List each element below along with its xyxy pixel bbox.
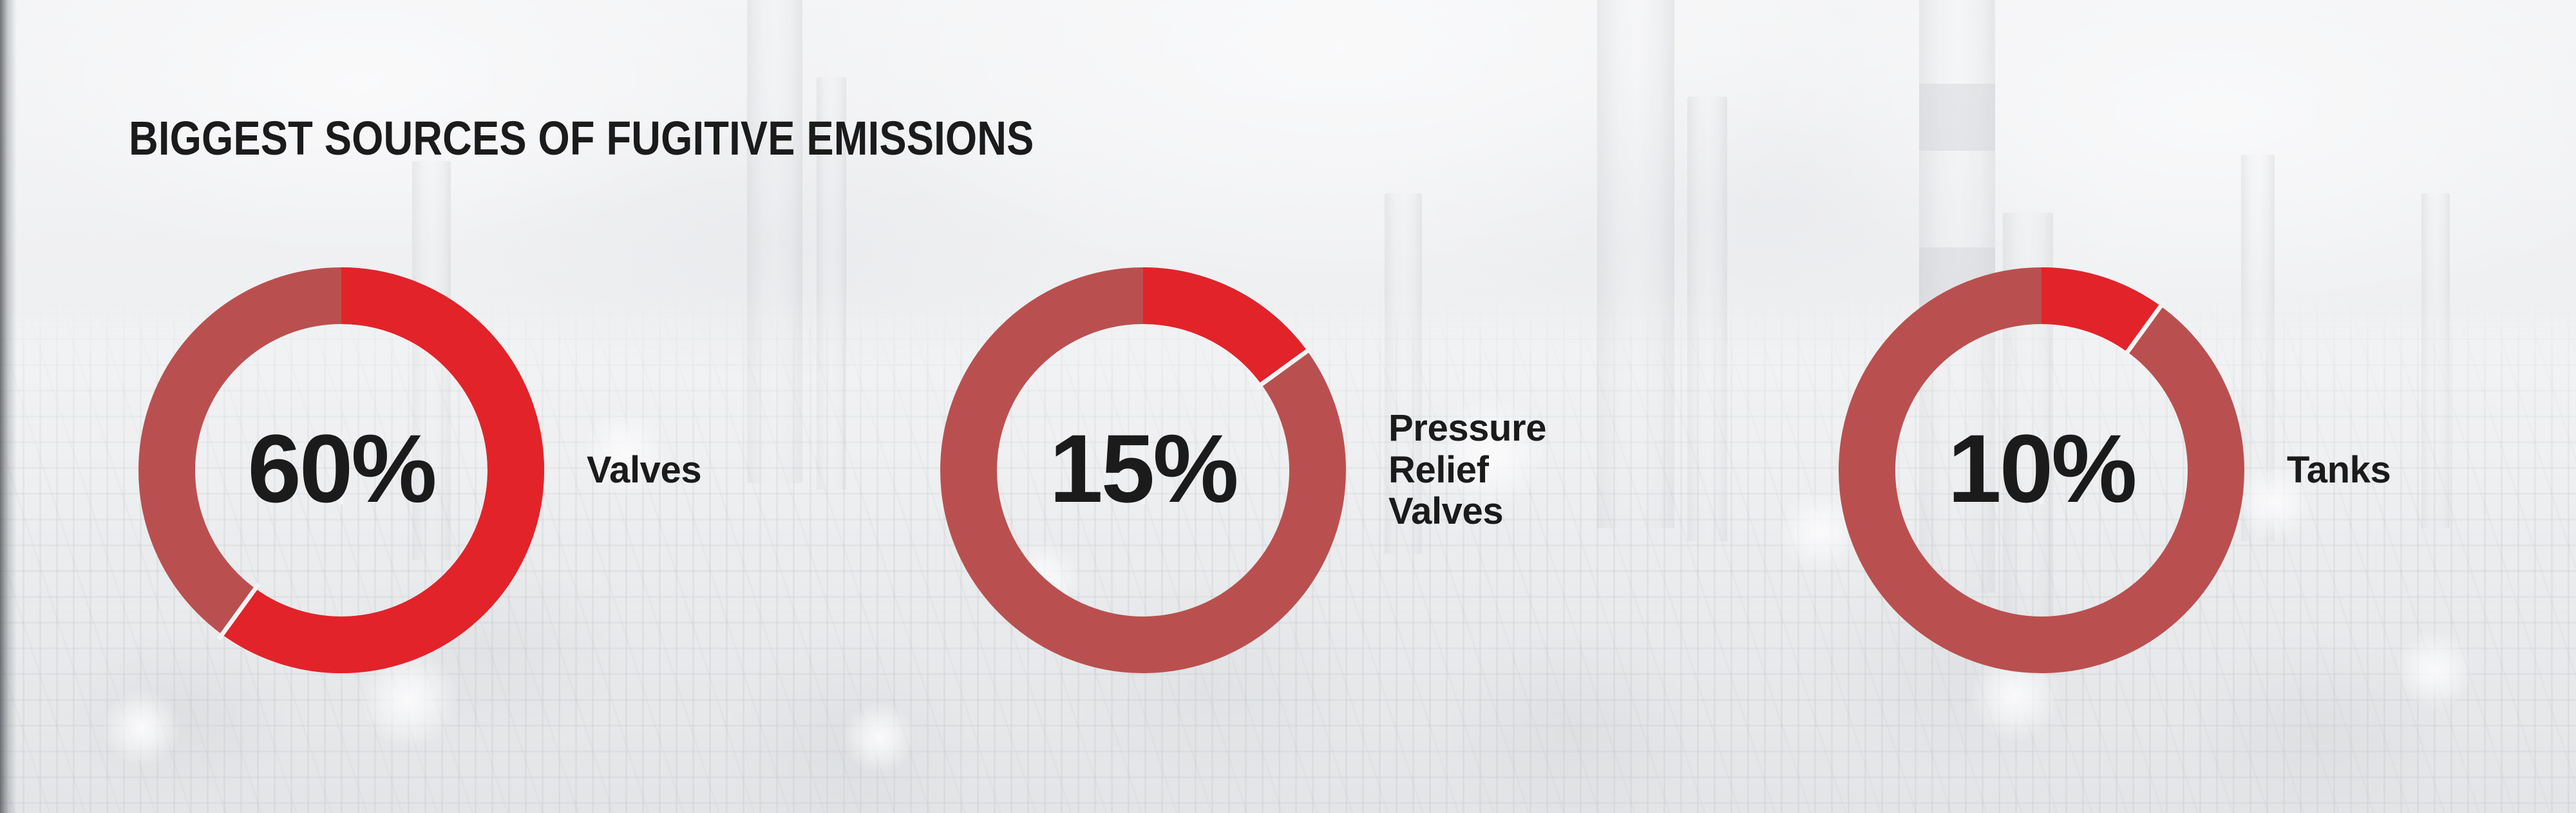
donut-label-pressure-relief-valves: Pressure Relief Valves [1388,408,1546,533]
donut-percentage-valves: 60% [138,267,544,673]
donut-percentage-pressure-relief-valves: 15% [940,267,1346,673]
donut-percentage-tanks: 10% [1839,267,2244,673]
donut-group-valves: 60% Valves [138,264,701,676]
donut-label-valves: Valves [587,450,701,492]
donut-chart-tanks: 10% [1839,267,2244,673]
donut-group-tanks: 10% Tanks [1839,264,2391,676]
donut-chart-pressure-relief-valves: 15% [940,267,1346,673]
donut-chart-valves: 60% [138,267,544,673]
donut-group-pressure-relief-valves: 15% Pressure Relief Valves [940,264,1546,676]
donut-label-tanks: Tanks [2287,450,2391,492]
fugitive-emissions-infographic: BIGGEST SOURCES OF FUGITIVE EMISSIONS 60… [0,0,2576,813]
donut-chart-row: 60% Valves 15% Pressure Relief Valves [0,0,2576,813]
